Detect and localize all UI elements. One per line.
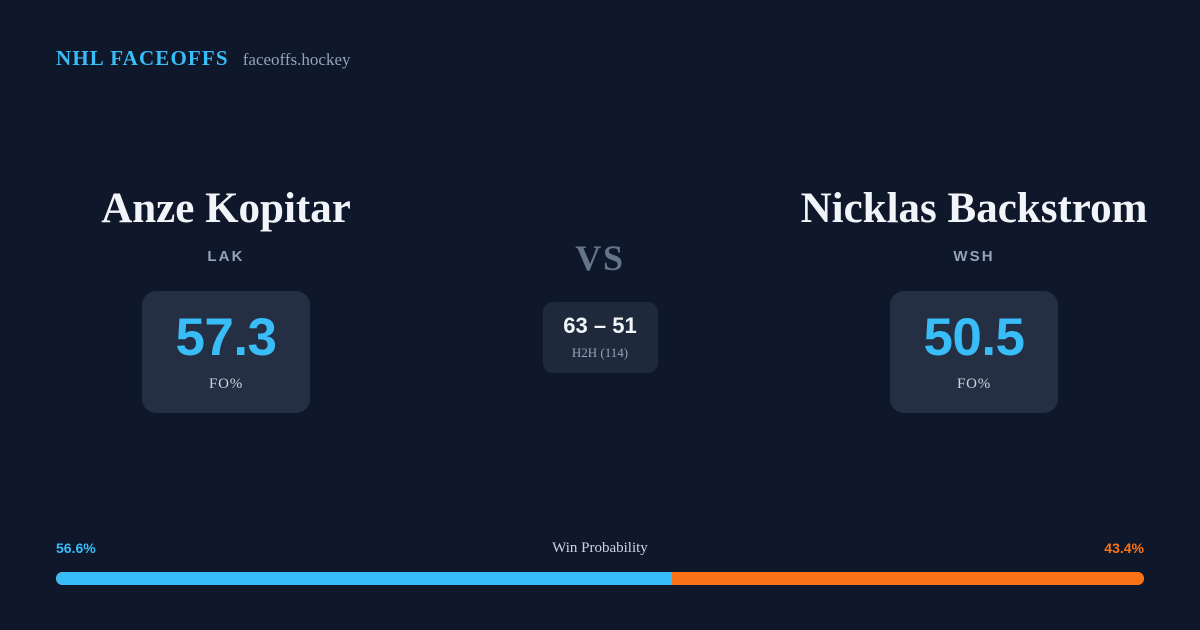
stat-label-right: FO% xyxy=(957,376,991,393)
matchup-graphic: NHL FACEOFFS faceoffs.hockey Anze Kopita… xyxy=(0,0,1200,630)
team-abbr-left: LAK xyxy=(207,248,244,265)
brand-name: NHL FACEOFFS xyxy=(56,46,229,71)
team-abbr-right: WSH xyxy=(953,248,994,265)
brand-header: NHL FACEOFFS faceoffs.hockey xyxy=(56,46,351,71)
versus-label: VS xyxy=(575,240,625,276)
brand-domain: faceoffs.hockey xyxy=(243,50,351,70)
win-probability-labels: 56.6% Win Probability 43.4% xyxy=(56,540,1144,562)
stat-card-left: 57.3 FO% xyxy=(142,291,310,413)
player-name-left: Anze Kopitar xyxy=(101,186,351,232)
stat-label-left: FO% xyxy=(209,376,243,393)
win-probability-title: Win Probability xyxy=(56,540,1144,557)
win-probability-bar-left xyxy=(56,572,672,585)
player-panel-right: Nicklas Backstrom WSH 50.5 FO% xyxy=(748,186,1200,413)
win-probability-section: 56.6% Win Probability 43.4% xyxy=(56,540,1144,585)
matchup-row: Anze Kopitar LAK 57.3 FO% VS 63 – 51 H2H… xyxy=(0,186,1200,436)
stat-value-right: 50.5 xyxy=(923,311,1024,364)
head-to-head-score: 63 – 51 xyxy=(563,315,636,337)
stat-value-left: 57.3 xyxy=(175,311,276,364)
win-probability-right-value: 43.4% xyxy=(1104,540,1144,556)
player-panel-left: Anze Kopitar LAK 57.3 FO% xyxy=(0,186,452,413)
win-probability-bar-right xyxy=(672,572,1144,585)
versus-panel: VS 63 – 51 H2H (114) xyxy=(452,186,748,373)
head-to-head-card: 63 – 51 H2H (114) xyxy=(543,302,658,373)
head-to-head-label: H2H (114) xyxy=(572,345,628,361)
stat-card-right: 50.5 FO% xyxy=(890,291,1058,413)
win-probability-bar xyxy=(56,572,1144,585)
player-name-right: Nicklas Backstrom xyxy=(801,186,1148,232)
